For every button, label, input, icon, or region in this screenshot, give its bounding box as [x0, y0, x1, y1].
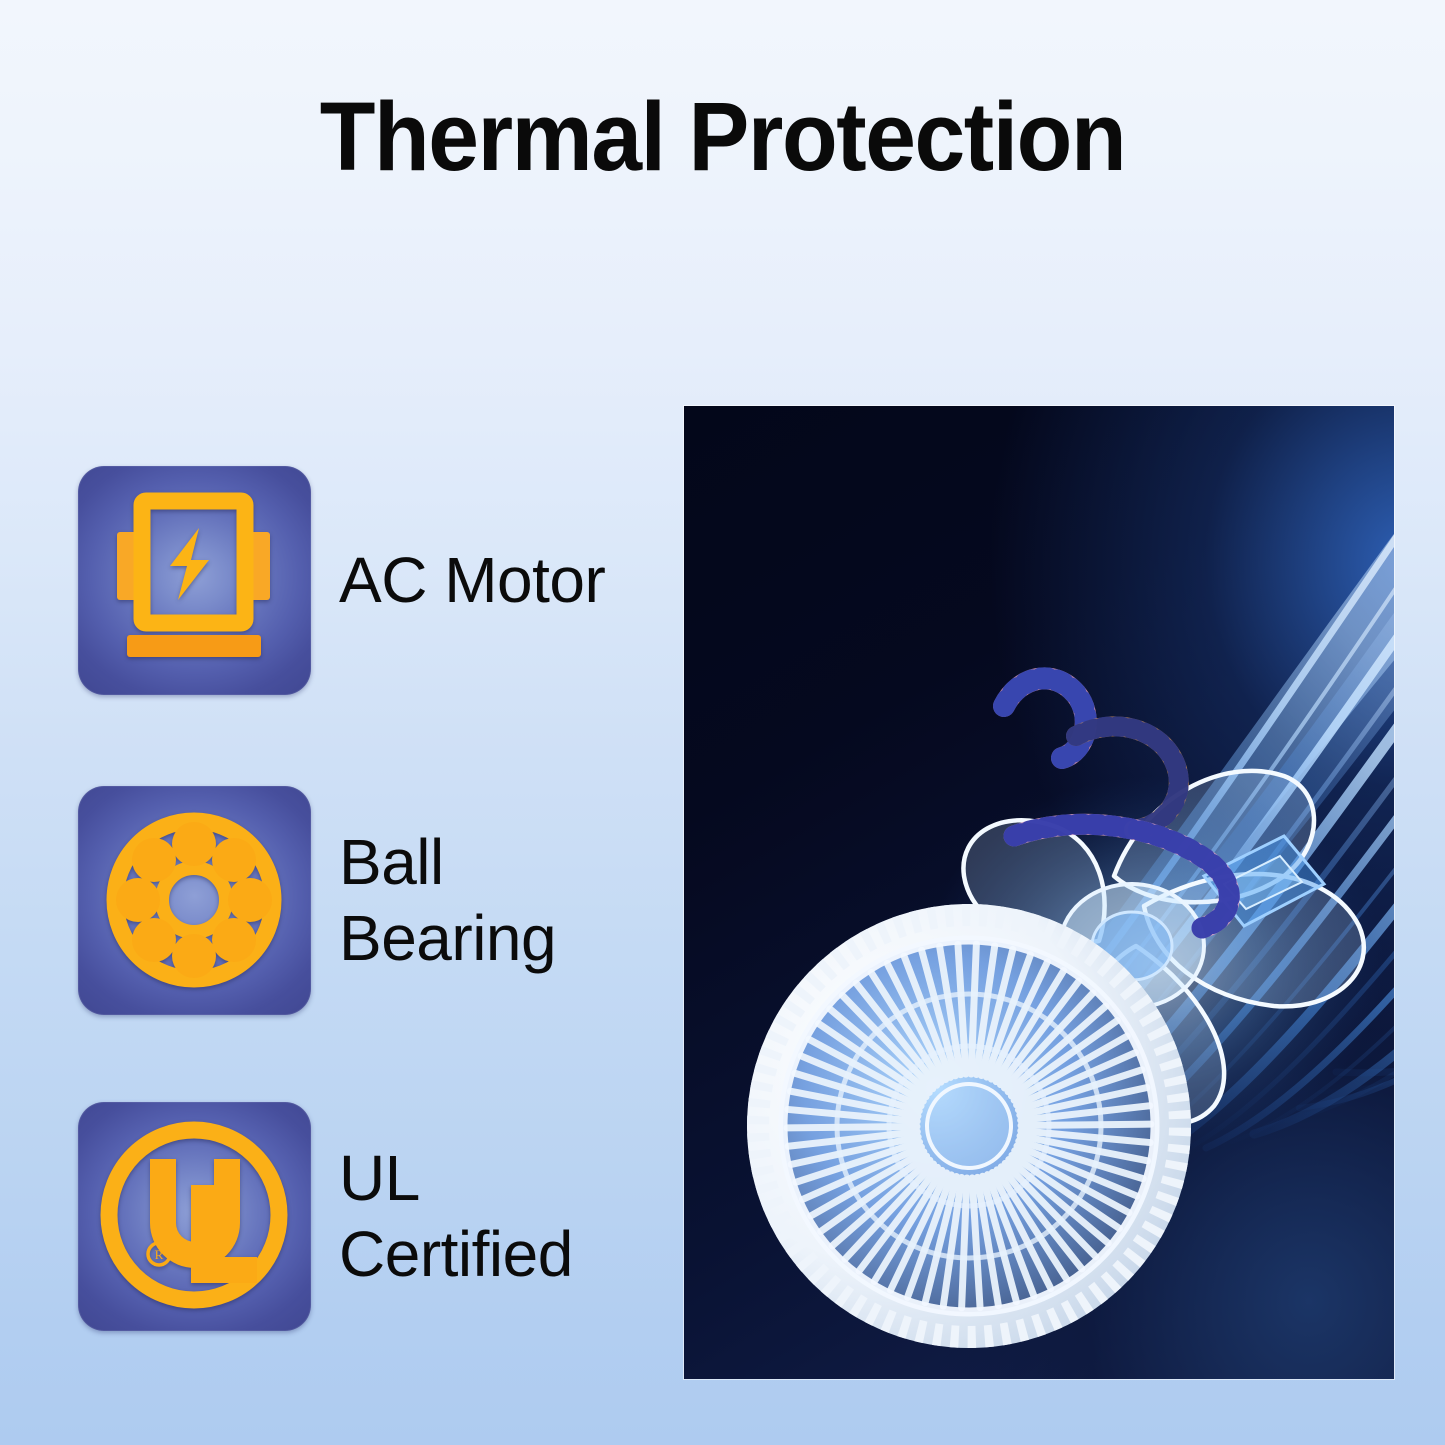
ball-bearing-icon: [78, 786, 311, 1015]
feature-item-ul-certified: R UL Certified: [78, 1102, 573, 1331]
photo-artwork: [684, 406, 1394, 1379]
ac-motor-icon: [78, 466, 311, 695]
ball-bearing-icon-tile: [78, 786, 311, 1015]
feature-label-ul-certified: UL Certified: [339, 1141, 573, 1292]
feature-label-ac-motor: AC Motor: [339, 543, 605, 619]
ac-motor-icon-tile: [78, 466, 311, 695]
svg-text:R: R: [155, 1247, 164, 1262]
feature-label-ball-bearing: Ball Bearing: [339, 825, 556, 976]
feature-item-ac-motor: AC Motor: [78, 466, 605, 695]
ul-certified-icon: R: [78, 1102, 311, 1331]
fan-motor-airflow-photo: [684, 406, 1394, 1379]
ul-certified-icon-tile: R: [78, 1102, 311, 1331]
page-title: Thermal Protection: [43, 84, 1401, 191]
product-feature-panel: Thermal Protection AC Motor: [0, 0, 1445, 1445]
feature-item-ball-bearing: Ball Bearing: [78, 786, 556, 1015]
